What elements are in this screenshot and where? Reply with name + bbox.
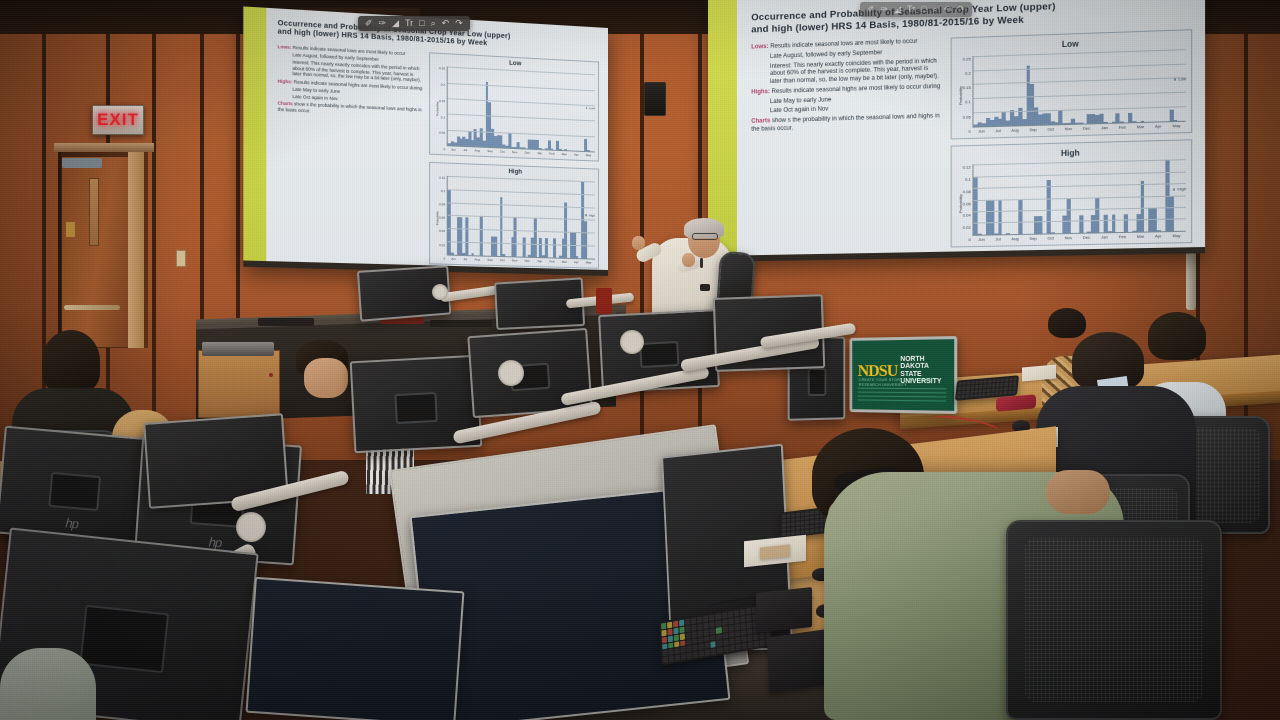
keyboard-key[interactable] [661,623,666,630]
keyboard-key[interactable] [810,529,814,533]
keyboard-key[interactable] [680,640,685,647]
keyboard-key[interactable] [704,636,709,643]
highlighter-icon[interactable]: ✑ [379,19,387,28]
chart-x-tick: Aug [474,148,479,152]
keyboard-key[interactable] [801,530,805,534]
student-sleeve-foreground [0,648,96,720]
keyboard-key[interactable] [1004,391,1008,395]
chart-plot-area [973,159,1186,235]
keyboard-key[interactable] [699,650,704,657]
keyboard-key[interactable] [740,616,745,623]
magnifier-icon[interactable]: ⌕ [431,19,436,28]
annotation-toolbar-right[interactable]: ✐✑◢Tr□⌕↶↷ [860,2,972,17]
keyboard-key[interactable] [983,389,987,393]
keyboard-key[interactable] [740,622,745,629]
keyboard-key[interactable] [1009,382,1013,386]
keyboard-key[interactable] [967,381,971,385]
ndsu-decor-lines [858,388,946,405]
keyboard-key[interactable] [704,622,709,629]
chair-mesh [1025,538,1203,703]
chart-x-tick: Aug [474,257,479,261]
keyboard-key[interactable] [729,631,734,638]
keyboard-key[interactable] [982,393,986,397]
keyboard-key[interactable] [1008,386,1012,390]
keyboard-key[interactable] [723,632,728,639]
keyboard-key[interactable] [796,517,800,521]
keyboard-key[interactable] [673,627,678,634]
keyboard-key[interactable] [787,527,791,531]
monitor-back[interactable] [467,328,592,418]
keyboard-key[interactable] [796,531,800,535]
keyboard-key[interactable] [810,524,814,528]
keyboard-key[interactable] [760,640,765,647]
keyboard-key[interactable] [988,380,992,384]
keyboard-key[interactable] [686,632,691,639]
keyboard-key[interactable] [970,390,974,394]
keyboard-key[interactable] [717,634,722,641]
keyboard-key[interactable] [1005,378,1009,382]
keyboard-key[interactable] [805,516,809,520]
keyboard-key[interactable] [1004,387,1008,391]
chart-y-tick: 0.12 [963,165,971,170]
keyboard-key[interactable] [971,385,975,389]
office-chair-foreground[interactable] [1006,520,1222,720]
keyboard-key[interactable] [729,645,734,652]
chart-plot-area [447,67,595,153]
keyboard-key[interactable] [723,646,728,653]
keyboard-key[interactable] [687,652,692,659]
keyboard-key[interactable] [675,648,680,655]
keyboard-key[interactable] [1000,387,1004,391]
pen-icon[interactable]: ✐ [867,5,875,14]
keyboard-key[interactable] [722,619,727,626]
chart-x-tick: Feb [549,259,554,263]
keyboard-key[interactable] [815,519,819,523]
keyboard-key[interactable] [991,388,995,392]
keyboard-key[interactable] [685,618,690,625]
keyboard-key[interactable] [697,616,702,623]
keyboard-key[interactable] [996,379,1000,383]
chart-x-tick: Apr [574,260,579,264]
chart-bar [471,254,474,255]
chart-bar [1103,214,1107,232]
monitor-foreground-left-2[interactable] [246,577,465,720]
highlighter-icon[interactable]: ✑ [881,5,889,14]
keyboard-key[interactable] [966,394,970,398]
keyboard-key[interactable] [709,614,714,621]
chart-x-tick: Apr [574,153,579,157]
keyboard-key[interactable] [963,382,967,386]
keyboard-key[interactable] [663,657,668,664]
pen-icon[interactable]: ✐ [365,19,373,28]
keyboard-key[interactable] [680,626,685,633]
keyboard-key[interactable] [801,516,805,520]
chart-plot-area [447,176,595,259]
keyboard-key[interactable] [996,387,1000,391]
rectangle-icon[interactable]: □ [419,19,424,28]
keyboard-key[interactable] [971,381,975,385]
chart-x-tick: Mar [1137,124,1144,129]
chart-y-tick: 0.15 [439,99,445,103]
keyboard-key[interactable] [735,630,740,637]
keyboard-key[interactable] [805,511,809,515]
keyboard-key[interactable] [820,519,824,523]
wall-seam [152,0,156,460]
chart-y-tick: 0.04 [439,229,445,233]
keyboard-key[interactable] [995,392,999,396]
lecture-hall-photo: EXIT Occurrence and Probability of Seaso… [0,0,1280,720]
undo-icon[interactable]: ↶ [944,5,952,14]
slide-accent-bar [243,6,266,267]
keyboard-key[interactable] [782,523,786,527]
keyboard-key[interactable] [805,530,809,534]
keyboard-key[interactable] [711,641,716,648]
keyboard-key[interactable] [961,395,965,399]
keyboard-key[interactable] [741,636,746,643]
keyboard-key[interactable] [1012,386,1016,390]
chart-x-tick: Oct [1047,235,1054,240]
keyboard-key[interactable] [673,621,678,628]
keyboard-key[interactable] [984,380,988,384]
undo-icon[interactable]: ↶ [442,19,450,28]
keyboard-key[interactable] [791,518,795,522]
keyboard-key[interactable] [704,629,709,636]
chart-x-tick: Nov [1065,126,1073,131]
chart-bar [565,150,568,151]
chart-bar [587,150,590,151]
keyboard-key[interactable] [716,620,721,627]
chart-x-tick: Sep [1029,127,1036,132]
keyboard-key[interactable] [728,625,733,632]
exit-sign: EXIT [92,105,144,135]
slide-bullet: Charts show s the probability in which t… [751,113,942,134]
redo-icon[interactable]: ↷ [957,5,965,14]
keyboard-key[interactable] [716,627,721,634]
chart-y-tick: 0.05 [963,114,971,119]
eraser-icon[interactable]: ◢ [392,19,399,28]
chart-bar [974,176,978,234]
keyboard-key[interactable] [979,389,983,393]
keyboard-key[interactable] [980,380,984,384]
keyboard-key[interactable] [711,648,716,655]
keyboard-key[interactable] [747,642,752,649]
keyboard-key[interactable] [820,523,824,527]
keyboard-key[interactable] [717,640,722,647]
keyboard-key[interactable] [782,528,786,532]
door-push-bar[interactable] [64,305,120,310]
keyboard-key[interactable] [686,625,691,632]
keyboard-key[interactable] [734,624,739,631]
keyboard-key[interactable] [668,635,673,642]
keyboard-key[interactable] [987,392,991,396]
text-icon[interactable]: Tr [405,19,413,28]
chart-x-tick: Dec [525,150,530,154]
chart-x-tick: Jun [978,237,985,242]
keyboard-key[interactable] [983,384,987,388]
keyboard-key[interactable] [966,386,970,390]
keyboard-key[interactable] [693,645,698,652]
chart-title: High [956,146,1186,161]
keyboard-key[interactable] [992,379,996,383]
equipment-cabinet[interactable] [198,350,280,418]
chart-y-tick: 0 [439,147,445,151]
keyboard-key[interactable] [698,623,703,630]
chart-bar [539,237,542,256]
keyboard-key[interactable] [791,531,795,535]
keyboard-key[interactable] [1001,378,1005,382]
magnifier-icon[interactable]: ⌕ [933,5,938,14]
keyboard-key[interactable] [815,524,819,528]
keyboard-key[interactable] [674,634,679,641]
chart-bar [1112,214,1116,232]
chart-y-tick: 0.06 [963,201,971,206]
keyboard-key[interactable] [741,643,746,650]
keyboard-key[interactable] [801,521,805,525]
hp-logo: hp [65,515,79,531]
keyboard-key[interactable] [699,643,704,650]
door-jamb [128,152,144,348]
keyboard-key[interactable] [703,615,708,622]
chart-x-tick: Jun [451,147,456,151]
keyboard-key[interactable] [723,639,728,646]
chart-y-axis-label: Probability [434,66,439,151]
keyboard-key[interactable] [958,386,962,390]
keyboard-key[interactable] [810,520,814,524]
keyboard-key[interactable] [974,389,978,393]
keyboard-key[interactable] [692,631,697,638]
keyboard-key[interactable] [710,635,715,642]
keyboard-key[interactable] [746,615,751,622]
chart-y-axis-label: Probability [956,165,962,242]
chart-y-ticks: 0.120.10.080.060.040.020 [963,165,973,242]
legend-label: Low [1178,76,1186,81]
chart-bar [522,148,525,149]
rectangle-icon[interactable]: □ [921,5,926,14]
chart-low: Low Probability 0.250.20.150.10.050 JunJ… [429,52,599,162]
keyboard-key[interactable] [796,522,800,526]
monitor-arm-joint[interactable] [620,330,644,354]
chart-x-tick: Jul [995,128,1000,133]
keyboard-key[interactable] [791,513,795,517]
keyboard-key[interactable] [746,621,751,628]
keyboard-key[interactable] [1013,377,1017,381]
keyboard-key[interactable] [662,643,667,650]
annotation-toolbar-left[interactable]: ✐✑◢Tr□⌕↶↷ [358,16,470,31]
keyboard-key[interactable] [957,395,961,399]
papers [1022,365,1056,382]
keyboard-key[interactable] [662,636,667,643]
keyboard-key[interactable] [820,528,824,532]
eraser-icon[interactable]: ◢ [894,5,901,14]
chart-y-ticks: 0.120.10.080.060.040.020 [439,176,447,261]
keyboard-key[interactable] [988,384,992,388]
ndsu-branded-monitor[interactable]: NDSU NORTH DAKOTA STATE UNIVERSITY CREAT… [850,336,958,414]
keyboard-key[interactable] [787,523,791,527]
projection-screen-left: Occurrence and Probability of Seasonal C… [243,6,608,276]
chart-bar [1157,230,1161,231]
keyboard-key[interactable] [680,633,685,640]
keyboard-key[interactable] [958,391,962,395]
keyboard-key[interactable] [1009,378,1013,382]
keyboard-key[interactable] [747,635,752,642]
keyboard-key[interactable] [668,649,673,656]
keyboard-key[interactable] [1008,391,1012,395]
chart-y-tick: 0.2 [439,82,445,86]
keyboard-key[interactable] [787,514,791,518]
keyboard-key[interactable] [978,393,982,397]
keyboard-key[interactable] [753,634,758,641]
keyboard-key[interactable] [728,618,733,625]
chart-bar [1006,233,1010,234]
keyboard-key[interactable] [679,620,684,627]
chart-x-tick: Jan [1101,125,1108,130]
keyboard-key[interactable] [668,642,673,649]
keyboard-key[interactable] [674,641,679,648]
keyboard-key[interactable] [991,392,995,396]
chart-y-tick: 0 [963,237,971,242]
keyboard-key[interactable] [958,382,962,386]
keyboard-key[interactable] [805,520,809,524]
monitor-arm-joint[interactable] [498,360,524,386]
keyboard-key[interactable] [662,650,667,657]
keyboard-key[interactable] [705,649,710,656]
student-hair [42,330,100,392]
keyboard-key[interactable] [974,394,978,398]
keyboard-key[interactable] [979,385,983,389]
legend-label: High [1177,187,1186,192]
keyboard-key[interactable] [975,385,979,389]
chart-x-tick: Aug [1011,127,1018,132]
keyboard-key[interactable] [815,510,819,514]
chart-bar [551,149,554,150]
keyboard-key[interactable] [741,629,746,636]
keyboard-key[interactable] [687,646,692,653]
chart-y-tick: 0.2 [963,71,971,76]
chart-x-tick: Feb [1119,234,1126,239]
keyboard-key[interactable] [735,637,740,644]
light-switch[interactable] [176,250,186,267]
student-shoulder-skin [1046,470,1110,514]
keyboard-key[interactable] [975,381,979,385]
keyboard-key[interactable] [691,617,696,624]
keyboard-key[interactable] [754,641,759,648]
keyboard-key[interactable] [810,515,814,519]
chart-bar [1169,196,1173,230]
keyboard-key[interactable] [717,647,722,654]
keyboard-key[interactable] [787,518,791,522]
keyboard-key[interactable] [815,515,819,519]
keyboard-key[interactable] [970,394,974,398]
keyboard-key[interactable] [791,527,795,531]
keyboard-key[interactable] [698,637,703,644]
monitor-arm-joint[interactable] [432,284,448,300]
chart-bar [1051,232,1055,233]
chart-bar [1038,216,1042,234]
chart-x-tick: May [586,260,592,264]
chart-bar [584,221,587,258]
keyboard-key[interactable] [805,525,809,529]
keyboard-key[interactable] [796,512,800,516]
exit-sign-label: EXIT [97,110,139,130]
presenter-left-hand [632,236,645,250]
chart-x-tick: Jan [1101,234,1108,239]
keyboard-key[interactable] [810,511,814,515]
keyboard-key[interactable] [782,514,786,518]
keyboard-key[interactable] [669,656,674,663]
keyboard-key[interactable] [999,391,1003,395]
chart-legend: Low [586,106,595,110]
keyboard-key[interactable] [698,630,703,637]
keyboard-key[interactable] [692,638,697,645]
chart-bar [1079,123,1083,124]
keyboard-key[interactable] [693,651,698,658]
keyboard-key[interactable] [667,628,672,635]
monitor-arm-joint[interactable] [236,512,266,542]
notebook-mid[interactable] [756,587,812,633]
chart-y-tick: 0.08 [963,189,971,194]
redo-icon[interactable]: ↷ [455,19,463,28]
chart-y-tick: 0.02 [439,243,445,247]
keyboard-key[interactable] [1000,383,1004,387]
keyboard-key[interactable] [1013,382,1017,386]
keyboard-key[interactable] [710,621,715,628]
keyboard-key[interactable] [815,528,819,532]
chart-y-tick: 0.1 [963,177,971,182]
keyboard-key[interactable] [747,628,752,635]
keyboard-key[interactable] [675,654,680,661]
keyboard-key[interactable] [962,390,966,394]
keyboard-key[interactable] [681,653,686,660]
legend-swatch [1174,78,1176,80]
projection-screen-right: Occurrence and Probability of Seasonal C… [708,0,1205,262]
chart-y-ticks: 0.250.20.150.10.050 [963,56,973,133]
legend-label: High [589,213,595,217]
keyboard-key[interactable] [801,526,805,530]
keyboard-key[interactable] [1004,382,1008,386]
keyboard-key[interactable] [722,626,727,633]
keyboard-key[interactable] [996,383,1000,387]
chart-x-tick: Dec [1083,234,1091,239]
keyboard-key[interactable] [782,519,786,523]
keyboard-key[interactable] [1012,390,1016,394]
keyboard-key[interactable] [692,624,697,631]
keyboard-key[interactable] [681,647,686,654]
keyboard-key[interactable] [962,386,966,390]
keyboard-key[interactable] [796,526,800,530]
keyboard-key[interactable] [686,639,691,646]
keyboard-key[interactable] [705,642,710,649]
keyboard-key[interactable] [801,512,805,516]
keyboard-key[interactable] [759,633,764,640]
wall-speaker [644,82,666,116]
chart-x-tick: Feb [549,152,554,156]
keyboard-key[interactable] [667,622,672,629]
keyboard-key[interactable] [735,644,740,651]
chart-bar [1169,109,1173,120]
keyboard-key[interactable] [661,629,666,636]
keyboard-key[interactable] [734,617,739,624]
chart-y-tick: 0.06 [439,216,445,220]
text-icon[interactable]: Tr [907,5,915,14]
keyboard-key[interactable] [710,628,715,635]
podium-clutter [430,320,492,327]
keyboard-key[interactable] [729,638,734,645]
chart-bar [978,233,982,234]
keyboard-key[interactable] [966,390,970,394]
keyboard-key[interactable] [791,522,795,526]
keyboard-key[interactable] [992,384,996,388]
keyboard-key[interactable] [987,388,991,392]
